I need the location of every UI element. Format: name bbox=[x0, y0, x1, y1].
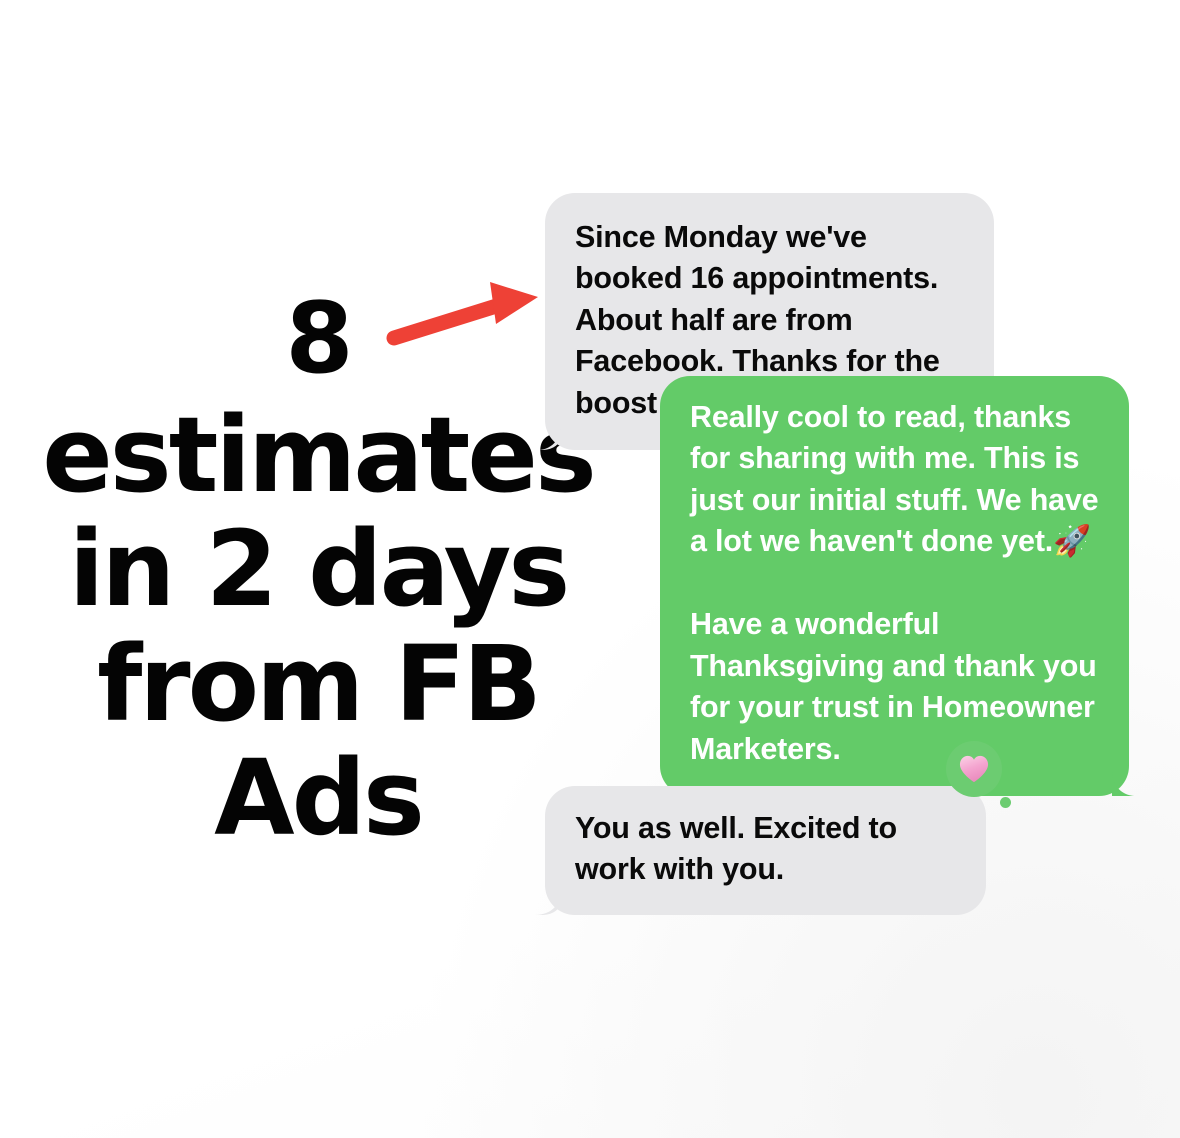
message-bubble-incoming-2[interactable]: You as well. Excited to work with you. bbox=[545, 786, 986, 915]
reaction-tail-dot bbox=[1000, 797, 1011, 808]
heart-reaction[interactable] bbox=[946, 741, 1004, 799]
reaction-bubble[interactable] bbox=[946, 741, 1002, 797]
testimonial-graphic: 8 estimates in 2 days from FB Ads Since … bbox=[0, 0, 1180, 1138]
headline-line-4: from FB bbox=[18, 627, 618, 741]
heart-icon bbox=[959, 754, 989, 784]
message-text: Really cool to read, thanks for sharing … bbox=[690, 397, 1099, 563]
page-title: 8 estimates in 2 days from FB Ads bbox=[18, 290, 618, 856]
headline-line-5: Ads bbox=[18, 741, 618, 855]
headline-line-1: 8 bbox=[18, 290, 618, 388]
message-bubble-outgoing-1[interactable]: Really cool to read, thanks for sharing … bbox=[660, 376, 1129, 796]
message-text: You as well. Excited to work with you. bbox=[575, 808, 956, 891]
headline-line-2: estimates bbox=[18, 398, 618, 512]
message-text: Have a wonderful Thanksgiving and thank … bbox=[690, 604, 1099, 770]
headline-line-3: in 2 days bbox=[18, 512, 618, 626]
